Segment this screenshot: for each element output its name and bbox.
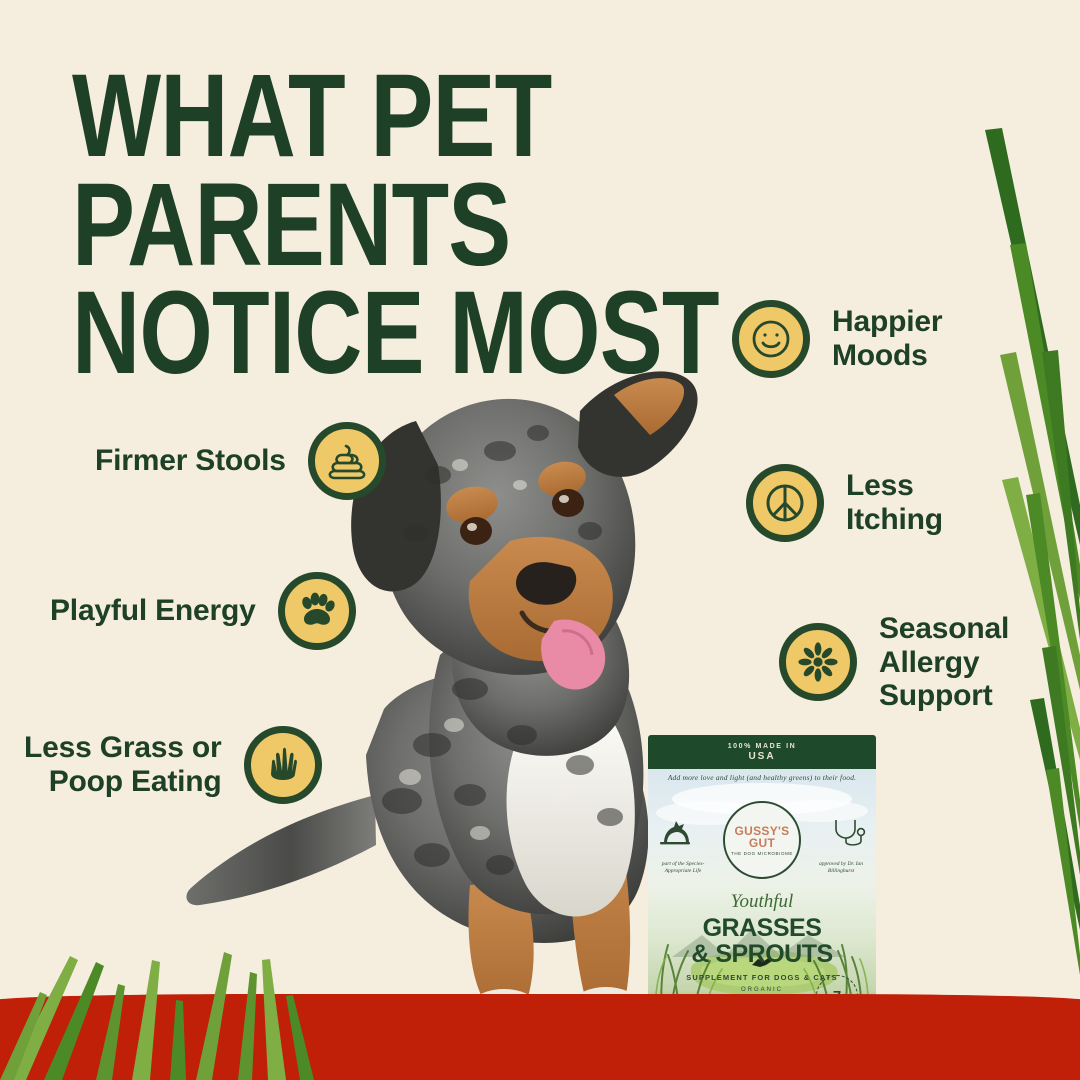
brand-logo: GUSSY'S GUT THE DOG MICROBIOME [723,801,801,879]
benefit-label: Less Itching [846,469,943,536]
benefit-less-itching: Less Itching [746,464,943,542]
made-in-line2: USA [748,751,775,762]
brand-line3: THE DOG MICROBIOME [731,851,793,856]
wolf-silhouette-icon [656,815,696,849]
bottom-red-band [0,1000,1080,1080]
benefit-label: Playful Energy [50,594,256,628]
flower-pollen-icon [779,623,857,701]
grass-tuft-icon [244,726,322,804]
package-title-line2: & SPROUTS [648,943,876,967]
package-title-line1: GRASSES [648,917,876,941]
benefit-label: Firmer Stools [95,444,286,478]
brand-line2: GUT [749,837,775,849]
promo-graphic: WHAT PET PARENTS NOTICE MOST [0,0,1080,1080]
stethoscope-icon [828,815,868,849]
package-sub-left: part of the Species-Appropriate Life [654,861,712,875]
peace-sign-icon [746,464,824,542]
benefit-label: Less Grass or Poop Eating [24,731,222,798]
benefit-firmer-stools: Firmer Stools [95,422,386,500]
package-sub-right: approved by Dr. Ian Billinghurst [812,861,870,875]
made-in-line1: 100% MADE IN [728,743,797,750]
benefit-label: Happier Moods [832,305,942,372]
package-tagline: Add more love and light (and healthy gre… [648,773,876,782]
benefit-happier-moods: Happier Moods [732,300,942,378]
smiley-face-icon [732,300,810,378]
package-script-word: Youthful [648,891,876,913]
poop-icon [308,422,386,500]
brand-line1: GUSSY'S [735,825,790,837]
package-top-seal: 100% MADE IN USA [648,735,876,769]
benefit-label: Seasonal Allergy Support [879,612,1009,713]
paw-print-icon [278,572,356,650]
benefit-playful-energy: Playful Energy [50,572,356,650]
benefit-seasonal-allergy-support: Seasonal Allergy Support [779,612,1009,713]
benefit-less-grass-eating: Less Grass or Poop Eating [24,726,322,804]
